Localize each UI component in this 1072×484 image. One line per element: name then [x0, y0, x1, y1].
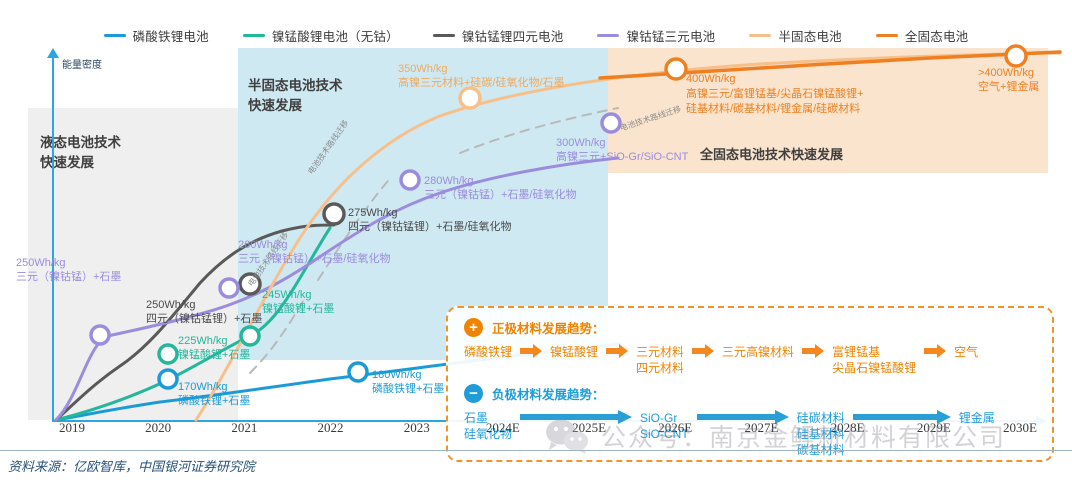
label-lnmo-225: 225Wh/kg 镍锰酸锂+石墨 — [178, 334, 250, 363]
cathode-step-2: 三元材料 四元材料 — [636, 344, 684, 376]
arrow-right-icon — [606, 344, 628, 358]
plot-area: 液态电池技术 快速发展 半固态电池技术 快速发展 全固态电池技术快速发展 能量密… — [0, 48, 1072, 420]
marker-lfp-180 — [349, 363, 367, 381]
cathode-step-1: 镍锰酸锂 — [550, 344, 598, 360]
legend-item-4[interactable]: 半固态电池 — [749, 26, 842, 45]
x-tick-2029E: 2029E — [917, 420, 951, 436]
legend-label: 镍锰酸锂电池（无钴） — [272, 26, 399, 45]
arrow-right-icon — [924, 344, 946, 358]
legend-swatch-icon — [433, 34, 455, 37]
label-lnmo-245: 245Wh/kg 镍锰酸锂+石墨 — [262, 288, 334, 317]
marker-semisolid-350 — [460, 88, 480, 108]
x-tick-2024E: 2024E — [486, 420, 520, 436]
legend-swatch-icon — [749, 34, 771, 37]
footer-divider — [0, 450, 1072, 451]
x-tick-2028E: 2028E — [831, 420, 865, 436]
label-semisolid-350: 350Wh/kg 高镍三元材料+硅碳/硅氧化物/石墨 — [398, 62, 565, 91]
label-allsolid-400: 400Wh/kg 高镍三元/富锂锰基/尖晶石镍锰酸锂+ 硅基材料/碳基材料/锂金… — [686, 72, 864, 117]
x-tick-2025E: 2025E — [572, 420, 606, 436]
minus-icon: − — [464, 384, 483, 403]
legend-item-5[interactable]: 全固态电池 — [876, 26, 969, 45]
label-ncm-250: 250Wh/kg 三元（镍钴锰）+石墨 — [16, 256, 121, 285]
cathode-step-4: 富锂锰基 尖晶石镍锰酸锂 — [832, 344, 916, 376]
marker-allsolid-400 — [666, 59, 686, 79]
x-tick-2023: 2023 — [404, 420, 430, 436]
arrow-right-icon — [692, 344, 714, 358]
cathode-header: + 正极材料发展趋势： — [464, 318, 605, 337]
x-tick-2019: 2019 — [59, 420, 85, 436]
anode-title: 负极材料发展趋势： — [492, 384, 605, 403]
cathode-step-3: 三元高镍材料 — [722, 344, 794, 360]
marker-lfp-170 — [159, 370, 177, 388]
cathode-step-5: 空气 — [954, 344, 978, 360]
x-tick-2021: 2021 — [231, 420, 257, 436]
marker-lnmo-225 — [159, 345, 177, 363]
marker-allsolid-gt400 — [1006, 46, 1026, 66]
legend-swatch-icon — [243, 34, 265, 37]
marker-ncm-250 — [91, 326, 109, 344]
legend-item-0[interactable]: 磷酸铁锂电池 — [104, 26, 209, 45]
x-tick-2026E: 2026E — [658, 420, 692, 436]
anode-header: − 负极材料发展趋势： — [464, 384, 605, 403]
cathode-step-0: 磷酸铁锂 — [464, 344, 512, 360]
legend-label: 镍钴锰三元电池 — [626, 26, 715, 45]
legend-label: 全固态电池 — [905, 26, 969, 45]
cathode-steps: 磷酸铁锂 镍锰酸锂 三元材料 四元材料 三元高镍材料 富锂锰基 尖晶石镍锰酸锂 … — [464, 344, 978, 376]
label-quaternary-275: 275Wh/kg 四元（镍钴锰锂）+石墨/硅氧化物 — [348, 206, 511, 235]
label-allsolid-gt400: >400Wh/kg 空气+锂金属 — [978, 66, 1039, 95]
chart-legend: 磷酸铁锂电池镍锰酸锂电池（无钴）镍钴锰锂四元电池镍钴锰三元电池半固态电池全固态电… — [0, 22, 1072, 48]
chart-root: 磷酸铁锂电池镍锰酸锂电池（无钴）镍钴锰锂四元电池镍钴锰三元电池半固态电池全固态电… — [0, 0, 1072, 484]
marker-ncm-280 — [401, 171, 419, 189]
label-ncm-300: 300Wh/kg 高镍三元+SiO-Gr/SiO-CNT — [556, 136, 688, 165]
legend-label: 镍钴锰锂四元电池 — [462, 26, 564, 45]
marker-quaternary-275 — [324, 204, 344, 224]
legend-swatch-icon — [597, 34, 619, 37]
arrow-right-icon — [802, 344, 824, 358]
legend-swatch-icon — [104, 34, 126, 37]
plus-icon: + — [464, 318, 483, 337]
x-tick-2022: 2022 — [318, 420, 344, 436]
cathode-title: 正极材料发展趋势： — [492, 318, 605, 337]
legend-label: 半固态电池 — [778, 26, 842, 45]
legend-item-2[interactable]: 镍钴锰锂四元电池 — [433, 26, 564, 45]
label-ncm-260: 260Wh/kg 三元（镍钴锰）+石墨/硅氧化物 — [238, 238, 390, 267]
label-lfp-180: 180Wh/kg 磷酸铁锂+石墨 — [372, 368, 444, 397]
arrow-right-icon — [520, 344, 542, 358]
legend-item-1[interactable]: 镍锰酸锂电池（无钴） — [243, 26, 399, 45]
legend-label: 磷酸铁锂电池 — [133, 26, 209, 45]
legend-item-3[interactable]: 镍钴锰三元电池 — [597, 26, 715, 45]
label-quaternary-250: 250Wh/kg 四元（镍钴锰锂）+石墨 — [146, 298, 262, 327]
x-axis-ticks: 201920202021202220232024E2025E2026E2027E… — [0, 420, 1072, 442]
label-lfp-170: 170Wh/kg 磷酸铁锂+石墨 — [178, 380, 250, 409]
x-tick-2020: 2020 — [145, 420, 171, 436]
label-ncm-280: 280Wh/kg 三元（镍钴锰）+石墨/硅氧化物 — [424, 174, 576, 203]
marker-ncm-260 — [220, 279, 238, 297]
source-note: 资料来源：亿欧智库，中国银河证券研究院 — [8, 456, 255, 475]
x-tick-2030E: 2030E — [1003, 420, 1037, 436]
x-tick-2027E: 2027E — [744, 420, 778, 436]
legend-swatch-icon — [876, 34, 898, 37]
